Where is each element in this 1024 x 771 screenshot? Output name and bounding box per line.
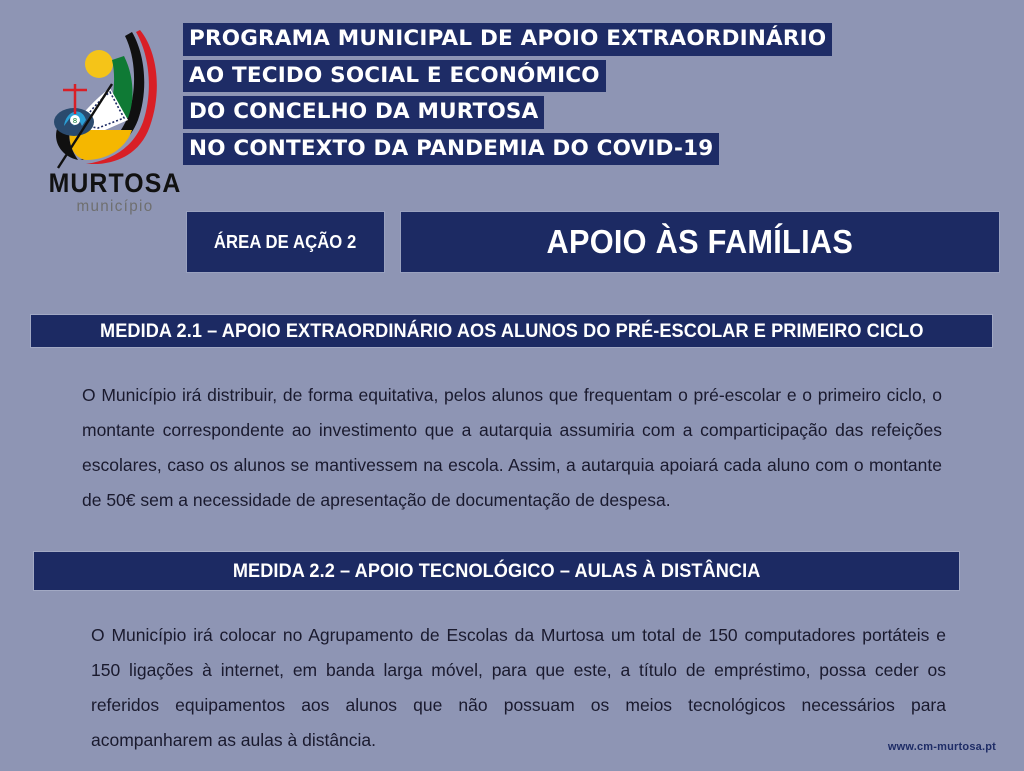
- measure-heading-bar-1: MEDIDA 2.1 – APOIO EXTRAORDINÁRIO AOS AL…: [30, 314, 993, 348]
- measure-heading-1: MEDIDA 2.1 – APOIO EXTRAORDINÁRIO AOS AL…: [100, 320, 924, 343]
- moliceiro-boat-icon: 8: [40, 22, 190, 174]
- footer-website-url[interactable]: www.cm-murtosa.pt: [888, 741, 996, 753]
- title-line-4: NO CONTEXTO DA PANDEMIA DO COVID-19: [183, 133, 719, 166]
- logo-name: MURTOSA: [46, 170, 184, 197]
- murtosa-logo: 8 MURTOSA município: [40, 22, 190, 227]
- action-area-label: ÁREA DE AÇÃO 2: [214, 231, 356, 253]
- action-area-label-box: ÁREA DE AÇÃO 2: [186, 211, 385, 273]
- title-line-1: PROGRAMA MUNICIPAL DE APOIO EXTRAORDINÁR…: [183, 23, 832, 56]
- measure-body-1: O Município irá distribuir, de forma equ…: [82, 378, 942, 518]
- action-area-title: APOIO ÀS FAMÍLIAS: [547, 223, 854, 261]
- logo-subtitle: município: [44, 198, 187, 216]
- title-line-3: DO CONCELHO DA MURTOSA: [183, 96, 544, 129]
- measure-heading-bar-2: MEDIDA 2.2 – APOIO TECNOLÓGICO – AULAS À…: [33, 551, 960, 591]
- measure-heading-2: MEDIDA 2.2 – APOIO TECNOLÓGICO – AULAS À…: [233, 560, 761, 583]
- sun-shape: [85, 50, 113, 78]
- measure-body-2: O Município irá colocar no Agrupamento d…: [91, 618, 946, 758]
- page-title: PROGRAMA MUNICIPAL DE APOIO EXTRAORDINÁR…: [183, 23, 832, 169]
- svg-text:8: 8: [73, 117, 77, 125]
- logo-wordmark: MURTOSA município: [40, 170, 190, 216]
- title-line-2: AO TECIDO SOCIAL E ECONÓMICO: [183, 60, 606, 93]
- action-area-title-box: APOIO ÀS FAMÍLIAS: [400, 211, 1000, 273]
